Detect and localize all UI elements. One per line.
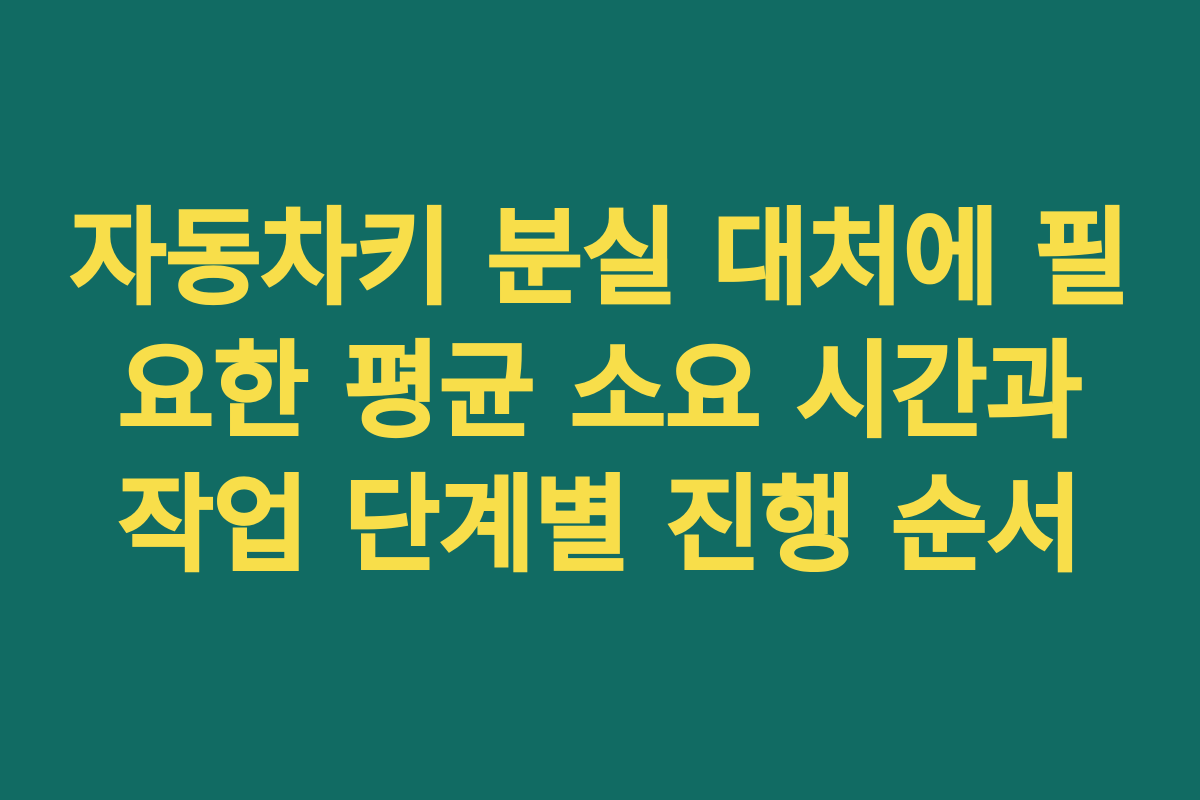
headline-text-block: 자동차키 분실 대처에 필 요한 평균 소요 시간과 작업 단계별 진행 순서 bbox=[70, 192, 1130, 591]
headline-line-1: 자동차키 분실 대처에 필 bbox=[70, 192, 1130, 325]
headline-line-2: 요한 평균 소요 시간과 bbox=[70, 325, 1130, 458]
poster-canvas: 자동차키 분실 대처에 필 요한 평균 소요 시간과 작업 단계별 진행 순서 bbox=[0, 0, 1200, 800]
headline-line-3: 작업 단계별 진행 순서 bbox=[70, 459, 1130, 592]
